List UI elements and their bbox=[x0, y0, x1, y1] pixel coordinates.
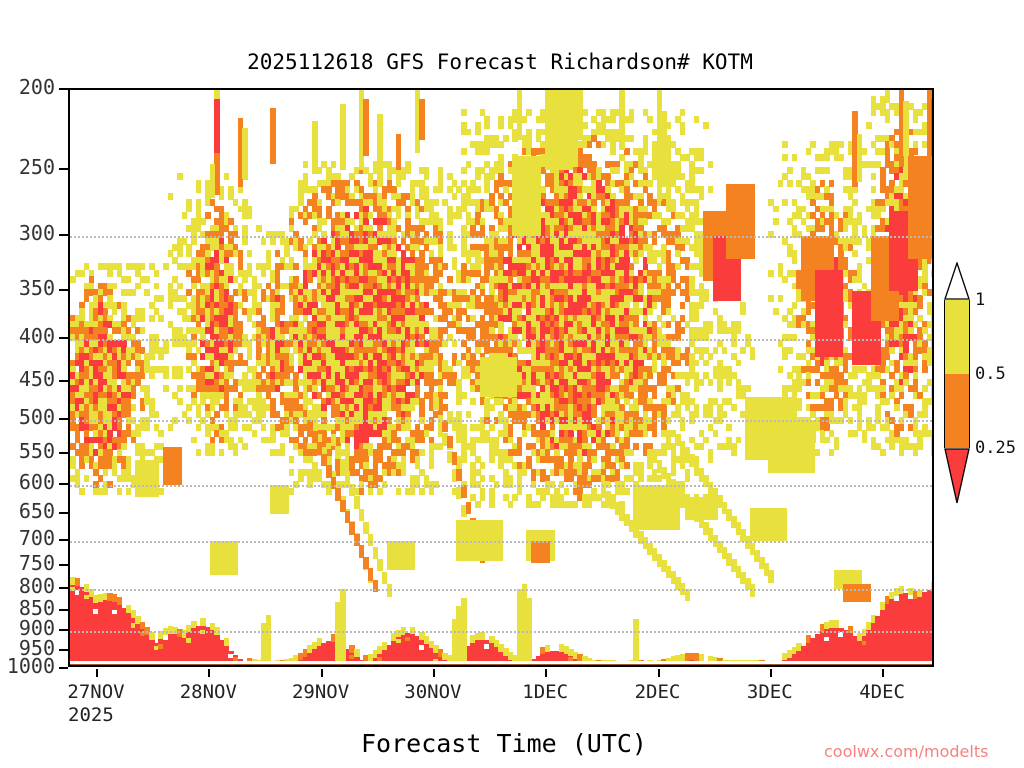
heatmap-cell bbox=[652, 302, 658, 309]
heatmap-cell bbox=[638, 475, 644, 482]
heatmap-cell bbox=[107, 481, 113, 488]
heatmap-cell bbox=[703, 437, 709, 444]
heatmap-cell bbox=[429, 488, 435, 495]
heatmap-cell bbox=[778, 295, 784, 302]
heatmap-cell bbox=[647, 308, 653, 315]
heatmap-cell bbox=[177, 250, 183, 257]
heatmap-cell bbox=[517, 488, 523, 495]
heatmap-cell bbox=[405, 167, 411, 174]
heatmap-cell bbox=[456, 212, 462, 219]
heatmap-cell bbox=[824, 167, 830, 174]
heatmap-cell bbox=[419, 437, 425, 444]
heatmap-cell bbox=[401, 469, 407, 476]
heatmap-cell bbox=[484, 148, 490, 155]
heatmap-cell bbox=[522, 430, 528, 437]
heatmap-cell bbox=[377, 488, 383, 495]
heatmap-cell bbox=[652, 392, 658, 399]
heatmap-cell bbox=[740, 347, 746, 354]
heatmap-cell bbox=[782, 141, 788, 148]
heatmap-cell bbox=[70, 276, 76, 283]
heatmap-cell bbox=[713, 430, 719, 437]
heatmap-cell bbox=[498, 141, 504, 148]
heatmap-cell bbox=[484, 122, 490, 129]
heatmap-cell bbox=[699, 443, 705, 450]
heatmap-cell bbox=[359, 488, 365, 495]
heatmap-cell bbox=[168, 424, 174, 431]
heatmap-cell bbox=[429, 424, 435, 431]
heatmap-cell bbox=[131, 404, 137, 411]
heatmap-cell bbox=[382, 481, 388, 488]
heatmap-cell bbox=[694, 116, 700, 123]
heatmap-cell bbox=[452, 193, 458, 200]
heatmap-cell bbox=[708, 379, 714, 386]
heatmap-cell bbox=[587, 501, 593, 508]
chart-root: 2025112618 GFS Forecast Richardson# KOTM… bbox=[0, 0, 1024, 768]
heatmap-cell bbox=[792, 257, 798, 264]
heatmap-cell bbox=[331, 161, 337, 168]
heatmap-cell bbox=[144, 276, 150, 283]
heatmap-cell bbox=[522, 469, 528, 476]
heatmap-cells bbox=[70, 90, 932, 665]
heatmap-cell bbox=[806, 379, 812, 386]
heatmap-cell bbox=[731, 404, 737, 411]
heatmap-cell bbox=[219, 449, 225, 456]
heatmap-cell bbox=[768, 270, 774, 277]
heatmap-cell bbox=[768, 231, 774, 238]
heatmap-cell bbox=[442, 340, 448, 347]
heatmap-cell bbox=[186, 417, 192, 424]
heatmap-cell bbox=[494, 481, 500, 488]
heatmap-cell bbox=[792, 302, 798, 309]
heatmap-cell bbox=[708, 456, 714, 463]
heatmap-cell bbox=[736, 360, 742, 367]
heatmap-cell bbox=[591, 456, 597, 463]
heatmap-cell bbox=[643, 218, 649, 225]
heatmap-cell bbox=[666, 218, 672, 225]
heatmap-cell bbox=[163, 347, 169, 354]
heatmap-cell bbox=[629, 116, 635, 123]
heatmap-cell bbox=[410, 404, 416, 411]
heatmap-cell bbox=[694, 315, 700, 322]
heatmap-cell bbox=[782, 276, 788, 283]
heatmap-cell bbox=[233, 231, 239, 238]
heatmap-cell bbox=[498, 122, 504, 129]
heatmap-cell bbox=[717, 385, 723, 392]
heatmap-cell bbox=[475, 186, 481, 193]
heatmap-cell bbox=[824, 437, 830, 444]
heatmap-cell bbox=[205, 212, 211, 219]
heatmap-cell bbox=[601, 141, 607, 148]
heatmap-cell bbox=[824, 154, 830, 161]
heatmap-cell bbox=[629, 449, 635, 456]
heatmap-cell bbox=[717, 417, 723, 424]
heatmap-cell bbox=[103, 469, 109, 476]
heatmap-cell bbox=[429, 462, 435, 469]
heatmap-cell bbox=[796, 385, 802, 392]
heatmap-cell bbox=[447, 276, 453, 283]
heatmap-cell bbox=[787, 347, 793, 354]
heatmap-cell bbox=[652, 238, 658, 245]
heatmap-cell bbox=[782, 199, 788, 206]
heatmap-cell bbox=[647, 116, 653, 123]
heatmap-cell bbox=[796, 404, 802, 411]
heatmap-cell bbox=[238, 186, 244, 193]
heatmap-cell bbox=[447, 218, 453, 225]
heatmap-cell bbox=[270, 238, 276, 245]
heatmap-cell bbox=[461, 456, 467, 463]
heatmap-cell bbox=[726, 379, 732, 386]
heatmap-cell bbox=[280, 449, 286, 456]
heatmap-cell bbox=[452, 340, 458, 347]
heatmap-cell bbox=[708, 161, 714, 168]
heatmap-cell bbox=[699, 154, 705, 161]
heatmap-cell bbox=[708, 327, 714, 334]
heatmap-cell bbox=[768, 295, 774, 302]
heatmap-cell bbox=[121, 443, 127, 450]
heatmap-cell bbox=[452, 244, 458, 251]
heatmap-cell bbox=[438, 186, 444, 193]
heatmap-cell bbox=[172, 417, 178, 424]
heatmap-cell bbox=[573, 501, 579, 508]
heatmap-cell bbox=[177, 283, 183, 290]
heatmap-cell bbox=[79, 270, 85, 277]
heatmap-cell bbox=[689, 417, 695, 424]
heatmap-cell bbox=[131, 392, 137, 399]
heatmap-cell bbox=[489, 501, 495, 508]
heatmap-cell bbox=[624, 488, 630, 495]
heatmap-cell bbox=[177, 385, 183, 392]
heatmap-cell bbox=[126, 276, 132, 283]
heatmap-cell bbox=[442, 263, 448, 270]
heatmap-cell bbox=[778, 180, 784, 187]
heatmap-cell bbox=[508, 501, 514, 508]
heatmap-cell bbox=[307, 481, 313, 488]
heatmap-cell bbox=[424, 173, 430, 180]
heatmap-cell bbox=[512, 494, 518, 501]
heatmap-cell bbox=[489, 424, 495, 431]
page-title: 2025112618 GFS Forecast Richardson# KOTM bbox=[0, 50, 1024, 74]
heatmap-cell bbox=[713, 347, 719, 354]
heatmap-cell bbox=[191, 437, 197, 444]
heatmap-cell bbox=[154, 283, 160, 290]
heatmap-cell bbox=[126, 488, 132, 495]
heatmap-cell bbox=[740, 308, 746, 315]
heatmap-cell bbox=[461, 167, 467, 174]
heatmap-cell bbox=[787, 180, 793, 187]
heatmap-cell bbox=[261, 270, 267, 277]
heatmap-cell bbox=[643, 148, 649, 155]
heatmap-cell bbox=[410, 488, 416, 495]
heatmap-cell bbox=[694, 411, 700, 418]
heatmap-cell bbox=[703, 360, 709, 367]
heatmap-cell bbox=[629, 135, 635, 142]
heatmap-cell bbox=[168, 302, 174, 309]
heatmap-cell bbox=[168, 193, 174, 200]
heatmap-cell bbox=[84, 475, 90, 482]
heatmap-cell bbox=[661, 449, 667, 456]
heatmap-cell bbox=[112, 283, 118, 290]
plot-area bbox=[68, 88, 934, 667]
heatmap-cell bbox=[144, 289, 150, 296]
heatmap-cell bbox=[666, 321, 672, 328]
heatmap-cell bbox=[79, 488, 85, 495]
heatmap-cell bbox=[368, 488, 374, 495]
heatmap-cell bbox=[680, 424, 686, 431]
heatmap-cell bbox=[736, 437, 742, 444]
heatmap-cell bbox=[699, 193, 705, 200]
heatmap-cell bbox=[782, 353, 788, 360]
heatmap-cell bbox=[633, 257, 639, 264]
heatmap-cell bbox=[242, 443, 248, 450]
heatmap-cell bbox=[177, 372, 183, 379]
heatmap-cell bbox=[722, 411, 728, 418]
heatmap-cell bbox=[680, 244, 686, 251]
heatmap-cell bbox=[675, 360, 681, 367]
heatmap-cell bbox=[419, 449, 425, 456]
heatmap-cell bbox=[158, 430, 164, 437]
heatmap-cell bbox=[163, 372, 169, 379]
heatmap-cell bbox=[163, 385, 169, 392]
heatmap-cell bbox=[806, 308, 812, 315]
heatmap-cell bbox=[722, 347, 728, 354]
heatmap-cell bbox=[135, 283, 141, 290]
heatmap-cell bbox=[810, 141, 816, 148]
heatmap-cell bbox=[475, 501, 481, 508]
heatmap-cell bbox=[466, 276, 472, 283]
heatmap-cell bbox=[182, 212, 188, 219]
heatmap-cell bbox=[186, 404, 192, 411]
heatmap-cell bbox=[456, 398, 462, 405]
heatmap-cell bbox=[261, 424, 267, 431]
heatmap-cell bbox=[438, 270, 444, 277]
heatmap-cell bbox=[140, 263, 146, 270]
heatmap-cell bbox=[247, 250, 253, 257]
heatmap-cell bbox=[247, 212, 253, 219]
heatmap-cell bbox=[135, 430, 141, 437]
heatmap-cell bbox=[242, 238, 248, 245]
heatmap-cell bbox=[480, 462, 486, 469]
heatmap-cell bbox=[154, 270, 160, 277]
heatmap-cell bbox=[680, 327, 686, 334]
heatmap-cell bbox=[829, 180, 835, 187]
heatmap-cell bbox=[307, 276, 313, 283]
heatmap-cell bbox=[261, 411, 267, 418]
heatmap-cell bbox=[675, 263, 681, 270]
heatmap-cell bbox=[196, 449, 202, 456]
heatmap-cell bbox=[480, 494, 486, 501]
heatmap-cell bbox=[335, 199, 341, 206]
heatmap-cell bbox=[564, 488, 570, 495]
heatmap-cell bbox=[652, 430, 658, 437]
heatmap-cell bbox=[131, 289, 137, 296]
heatmap-cell bbox=[615, 167, 621, 174]
heatmap-cell bbox=[242, 295, 248, 302]
heatmap-cell bbox=[610, 116, 616, 123]
heatmap-cell bbox=[480, 475, 486, 482]
heatmap-cell bbox=[671, 289, 677, 296]
heatmap-cell bbox=[466, 411, 472, 418]
heatmap-cell bbox=[270, 437, 276, 444]
heatmap-cell bbox=[540, 494, 546, 501]
heatmap-cell bbox=[731, 340, 737, 347]
heatmap-cell bbox=[177, 398, 183, 405]
heatmap-cell bbox=[699, 167, 705, 174]
heatmap-cell bbox=[680, 302, 686, 309]
heatmap-cell bbox=[526, 109, 532, 116]
heatmap-cell bbox=[144, 424, 150, 431]
heatmap-cell bbox=[703, 334, 709, 341]
heatmap-cell bbox=[633, 443, 639, 450]
heatmap-cell bbox=[680, 109, 686, 116]
heatmap-cell bbox=[280, 308, 286, 315]
heatmap-cell bbox=[289, 456, 295, 463]
heatmap-cell bbox=[140, 315, 146, 322]
heatmap-cell bbox=[117, 488, 123, 495]
heatmap-cell bbox=[247, 353, 253, 360]
heatmap-cell bbox=[773, 308, 779, 315]
heatmap-cell bbox=[624, 462, 630, 469]
heatmap-cell bbox=[782, 154, 788, 161]
heatmap-cell bbox=[610, 148, 616, 155]
heatmap-cell bbox=[517, 449, 523, 456]
heatmap-cell bbox=[666, 417, 672, 424]
heatmap-cell bbox=[293, 263, 299, 270]
heatmap-cell bbox=[508, 481, 514, 488]
heatmap-cell bbox=[736, 327, 742, 334]
heatmap-cell bbox=[158, 353, 164, 360]
heatmap-cell bbox=[210, 449, 216, 456]
heatmap-cell bbox=[787, 167, 793, 174]
heatmap-cell bbox=[731, 449, 737, 456]
heatmap-cell bbox=[806, 148, 812, 155]
heatmap-cell bbox=[750, 353, 756, 360]
heatmap-cell bbox=[699, 302, 705, 309]
heatmap-cell bbox=[433, 199, 439, 206]
heatmap-cell bbox=[815, 449, 821, 456]
heatmap-cell bbox=[303, 218, 309, 225]
heatmap-cell bbox=[685, 379, 691, 386]
heatmap-cell bbox=[461, 392, 467, 399]
heatmap-cell bbox=[140, 404, 146, 411]
heatmap-cell bbox=[191, 238, 197, 245]
heatmap-cell bbox=[396, 212, 402, 219]
heatmap-cell bbox=[489, 404, 495, 411]
heatmap-cell bbox=[773, 206, 779, 213]
heatmap-cell bbox=[643, 430, 649, 437]
heatmap-cell bbox=[773, 218, 779, 225]
heatmap-cell bbox=[708, 186, 714, 193]
heatmap-cell bbox=[112, 308, 118, 315]
heatmap-cell bbox=[293, 481, 299, 488]
heatmap-cell bbox=[647, 180, 653, 187]
heatmap-cell bbox=[461, 148, 467, 155]
heatmap-cell bbox=[242, 276, 248, 283]
heatmap-cell bbox=[461, 109, 467, 116]
heatmap-cell bbox=[680, 129, 686, 136]
heatmap-cell bbox=[778, 366, 784, 373]
heatmap-cell bbox=[475, 129, 481, 136]
heatmap-cell bbox=[149, 315, 155, 322]
heatmap-cell bbox=[298, 475, 304, 482]
heatmap-cell bbox=[224, 173, 230, 180]
heatmap-cell bbox=[647, 372, 653, 379]
heatmap-cell bbox=[703, 295, 709, 302]
heatmap-cell bbox=[470, 398, 476, 405]
heatmap-cell bbox=[140, 372, 146, 379]
heatmap-cell bbox=[233, 449, 239, 456]
heatmap-cell bbox=[820, 225, 826, 232]
heatmap-cell bbox=[442, 392, 448, 399]
heatmap-cell bbox=[303, 161, 309, 168]
heatmap-cell bbox=[703, 122, 709, 129]
heatmap-cell bbox=[396, 180, 402, 187]
heatmap-cell bbox=[792, 154, 798, 161]
heatmap-cell bbox=[396, 488, 402, 495]
heatmap-cell bbox=[252, 430, 258, 437]
heatmap-cell bbox=[140, 327, 146, 334]
heatmap-cell bbox=[149, 372, 155, 379]
heatmap-cell bbox=[708, 353, 714, 360]
chart-title-text: 2025112618 GFS Forecast Richardson# KOTM bbox=[247, 50, 753, 74]
heatmap-cell bbox=[536, 501, 542, 508]
heatmap-cell bbox=[177, 173, 183, 180]
heatmap-cell bbox=[103, 488, 109, 495]
heatmap-cell bbox=[200, 218, 206, 225]
heatmap-cell bbox=[163, 263, 169, 270]
heatmap-cell bbox=[401, 173, 407, 180]
heatmap-cell bbox=[726, 424, 732, 431]
heatmap-cell bbox=[79, 462, 85, 469]
heatmap-cell bbox=[196, 424, 202, 431]
heatmap-cell bbox=[126, 360, 132, 367]
heatmap-cell bbox=[158, 315, 164, 322]
heatmap-cell bbox=[475, 173, 481, 180]
heatmap-cell bbox=[256, 225, 262, 232]
heatmap-cell bbox=[261, 238, 267, 245]
heatmap-cell bbox=[489, 456, 495, 463]
heatmap-cell bbox=[196, 186, 202, 193]
heatmap-cell bbox=[214, 411, 220, 418]
heatmap-cell bbox=[233, 424, 239, 431]
heatmap-cell bbox=[158, 295, 164, 302]
heatmap-cell bbox=[466, 129, 472, 136]
heatmap-cell bbox=[149, 353, 155, 360]
heatmap-cell bbox=[587, 141, 593, 148]
heatmap-cell bbox=[419, 488, 425, 495]
heatmap-cell bbox=[186, 206, 192, 213]
heatmap-cell bbox=[699, 379, 705, 386]
heatmap-cell bbox=[154, 411, 160, 418]
heatmap-cell bbox=[745, 385, 751, 392]
heatmap-cell bbox=[503, 135, 509, 142]
heatmap-cell bbox=[685, 475, 691, 482]
heatmap-cell bbox=[321, 218, 327, 225]
heatmap-cell bbox=[466, 161, 472, 168]
heatmap-cell bbox=[289, 469, 295, 476]
heatmap-cell bbox=[289, 488, 295, 495]
heatmap-cell bbox=[694, 385, 700, 392]
heatmap-cell bbox=[433, 481, 439, 488]
heatmap-cell bbox=[792, 334, 798, 341]
heatmap-cell bbox=[158, 488, 164, 495]
heatmap-cell bbox=[694, 360, 700, 367]
heatmap-cell bbox=[107, 270, 113, 277]
heatmap-cell bbox=[675, 334, 681, 341]
